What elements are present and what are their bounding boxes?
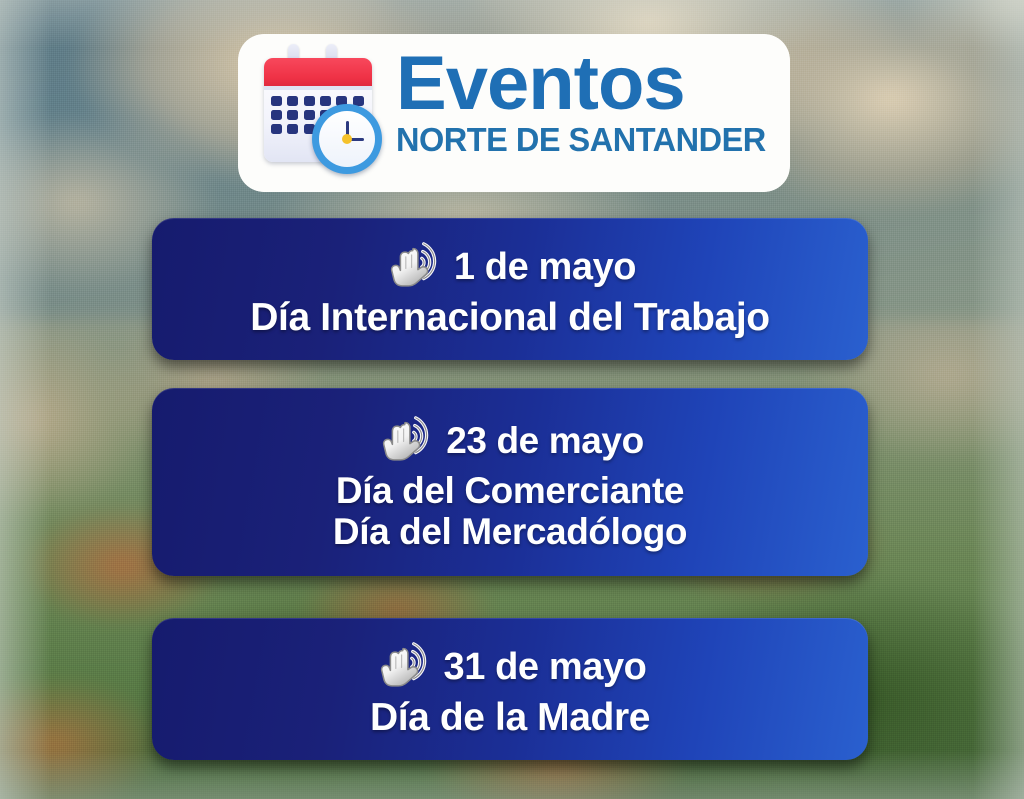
logo-title: Eventos bbox=[396, 48, 780, 121]
event-card-2-line-2: Día del Mercadólogo bbox=[333, 511, 687, 552]
event-card-1-date-row: 1 de mayo bbox=[384, 238, 636, 296]
logo-subtitle: NORTE DE SANTANDER bbox=[396, 123, 774, 156]
tap-hand-icon bbox=[376, 412, 438, 470]
logo-text-group: Eventos NORTE DE SANTANDER bbox=[396, 48, 780, 156]
event-card-3-date-row: 31 de mayo bbox=[374, 638, 647, 696]
event-card-3[interactable]: 31 de mayo Día de la Madre bbox=[152, 618, 868, 760]
calendar-clock-icon bbox=[250, 42, 382, 182]
event-card-1[interactable]: 1 de mayo Día Internacional del Trabajo bbox=[152, 218, 868, 360]
clock-center-pin bbox=[342, 134, 352, 144]
event-card-3-date: 31 de mayo bbox=[444, 646, 647, 689]
event-card-2[interactable]: 23 de mayo Día del Comerciante Día del M… bbox=[152, 388, 868, 576]
brand-logo: Eventos NORTE DE SANTANDER bbox=[238, 34, 790, 192]
event-card-1-line-1: Día Internacional del Trabajo bbox=[250, 296, 769, 340]
tap-hand-icon bbox=[384, 238, 446, 296]
calendar-divider bbox=[264, 86, 372, 90]
event-card-2-line-1: Día del Comerciante bbox=[336, 470, 684, 511]
event-card-1-date: 1 de mayo bbox=[454, 246, 636, 289]
tap-hand-icon bbox=[374, 638, 436, 696]
event-card-2-date: 23 de mayo bbox=[446, 420, 644, 462]
event-card-3-line-1: Día de la Madre bbox=[370, 696, 650, 740]
calendar-header-band bbox=[264, 58, 372, 86]
event-card-2-date-row: 23 de mayo bbox=[376, 412, 644, 470]
clock-face-icon bbox=[312, 104, 382, 174]
